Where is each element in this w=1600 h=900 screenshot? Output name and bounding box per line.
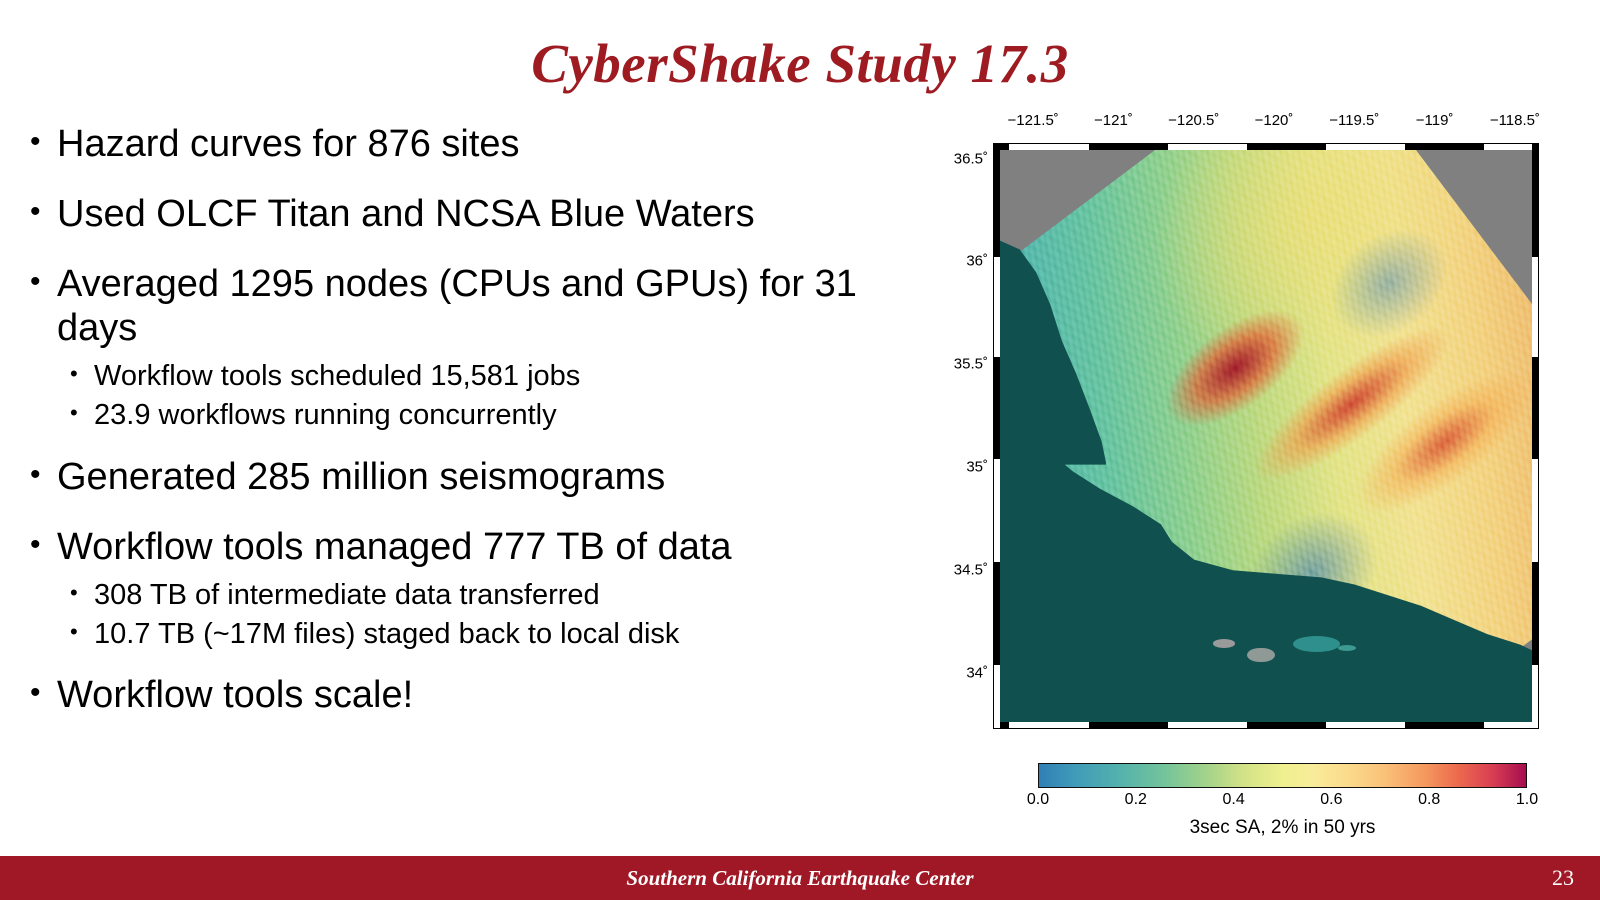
page-title: CyberShake Study 17.3	[0, 36, 1600, 91]
latitude-tick-label: 34˚	[966, 664, 988, 681]
latitude-tick-label: 35.5˚	[954, 356, 988, 373]
bullet-marker-icon: •	[70, 397, 94, 429]
map-panel	[993, 143, 1539, 729]
colorbar-tick-label: 1.0	[1516, 791, 1538, 809]
latitude-tick-label: 36˚	[966, 253, 988, 270]
list-item: • 23.9 workflows running concurrently	[70, 397, 935, 434]
list-item: • Workflow tools managed 777 TB of data	[30, 525, 935, 569]
list-item-label: Used OLCF Titan and NCSA Blue Waters	[57, 192, 935, 236]
bullet-marker-icon: •	[30, 192, 57, 232]
colorbar-tick-label: 0.8	[1418, 791, 1440, 809]
colorbar-ticks: 0.00.20.40.60.81.0	[1038, 791, 1527, 815]
list-item: • Hazard curves for 876 sites	[30, 122, 935, 166]
latitude-tick-label: 34.5˚	[954, 561, 988, 578]
longitude-tick-label: −120˚	[1255, 112, 1294, 129]
colorbar-tick-label: 0.6	[1320, 791, 1342, 809]
island-san-miguel	[1213, 639, 1235, 648]
bullet-marker-icon: •	[30, 262, 57, 302]
colorbar-legend: 0.00.20.40.60.81.0 3sec SA, 2% in 50 yrs	[1038, 763, 1527, 839]
list-item: • 10.7 TB (~17M files) staged back to lo…	[70, 616, 935, 653]
longitude-tick-label: −121.5˚	[1007, 112, 1058, 129]
colorbar-tick-label: 0.4	[1222, 791, 1244, 809]
colorbar-label: 3sec SA, 2% in 50 yrs	[1038, 817, 1527, 839]
longitude-tick-label: −121˚	[1094, 112, 1133, 129]
colorbar-tick-label: 0.2	[1125, 791, 1147, 809]
list-item-label: Averaged 1295 nodes (CPUs and GPUs) for …	[57, 262, 935, 350]
bullet-marker-icon: •	[30, 673, 57, 713]
bullet-list: • Hazard curves for 876 sites • Used OLC…	[30, 122, 935, 743]
bullet-marker-icon: •	[30, 122, 57, 162]
list-item: • Averaged 1295 nodes (CPUs and GPUs) fo…	[30, 262, 935, 350]
bullet-marker-icon: •	[30, 455, 57, 495]
colorbar-tick-label: 0.0	[1027, 791, 1049, 809]
bullet-marker-icon: •	[70, 577, 94, 609]
list-item: • Generated 285 million seismograms	[30, 455, 935, 499]
footer-organization: Southern California Earthquake Center	[0, 866, 1600, 891]
list-item-label: Workflow tools scheduled 15,581 jobs	[94, 358, 935, 395]
list-item-label: 23.9 workflows running concurrently	[94, 397, 935, 434]
page-number: 23	[1552, 865, 1574, 891]
longitude-tick-label: −120.5˚	[1168, 112, 1219, 129]
latitude-tick-label: 36.5˚	[954, 150, 988, 167]
bullet-marker-icon: •	[70, 358, 94, 390]
hazard-map-figure: −121.5˚−121˚−120.5˚−120˚−119.5˚−119˚−118…	[950, 112, 1570, 842]
list-item-label: Workflow tools managed 777 TB of data	[57, 525, 935, 569]
list-item-label: Generated 285 million seismograms	[57, 455, 935, 499]
bullet-marker-icon: •	[30, 525, 57, 565]
list-item: • Workflow tools scale!	[30, 673, 935, 717]
list-item: • 308 TB of intermediate data transferre…	[70, 577, 935, 614]
footer-bar: Southern California Earthquake Center 23	[0, 856, 1600, 900]
list-item: • Used OLCF Titan and NCSA Blue Waters	[30, 192, 935, 236]
list-item-label: 10.7 TB (~17M files) staged back to loca…	[94, 616, 935, 653]
bullet-marker-icon: •	[70, 616, 94, 648]
latitude-tick-label: 35˚	[966, 458, 988, 475]
map-frame-bottom	[993, 722, 1539, 729]
longitude-tick-label: −119.5˚	[1329, 112, 1379, 129]
map-image	[1000, 150, 1532, 722]
list-item-label: Workflow tools scale!	[57, 673, 935, 717]
list-item-label: Hazard curves for 876 sites	[57, 122, 935, 166]
colorbar-gradient	[1038, 763, 1527, 788]
map-frame-top	[993, 143, 1539, 150]
longitude-axis: −121.5˚−121˚−120.5˚−120˚−119.5˚−119˚−118…	[993, 112, 1539, 138]
latitude-axis: 36.5˚36˚35.5˚35˚34.5˚34˚	[950, 138, 992, 724]
map-frame-left	[993, 143, 1000, 729]
longitude-tick-label: −118.5˚	[1490, 112, 1540, 129]
list-item: • Workflow tools scheduled 15,581 jobs	[70, 358, 935, 395]
longitude-tick-label: −119˚	[1416, 112, 1454, 129]
list-item-label: 308 TB of intermediate data transferred	[94, 577, 935, 614]
map-frame-right	[1532, 143, 1539, 729]
